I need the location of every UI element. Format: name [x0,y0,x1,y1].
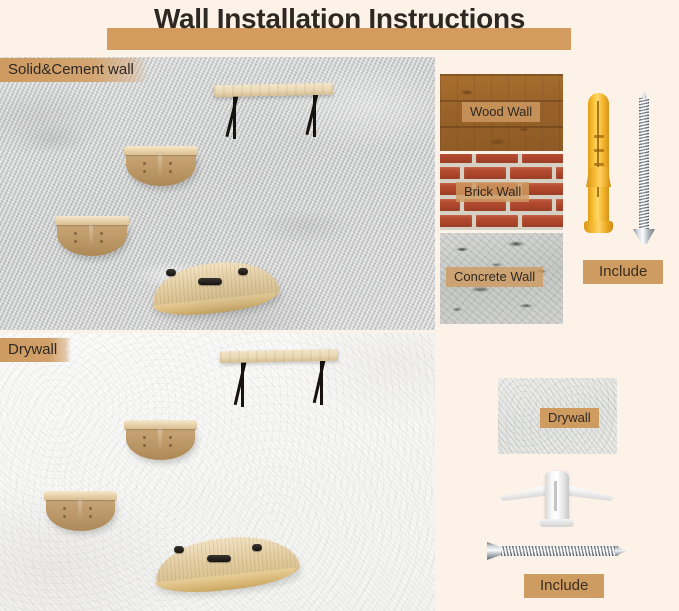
swatch-label-wood-wall: Wood Wall [462,102,540,122]
infographic-page: Wall Installation Instructions [0,0,679,611]
swatch-wood-wall: Wood Wall [440,74,563,151]
curved-perch-drywall [155,538,299,588]
wood-screw-horizontal-icon [487,540,629,562]
photo-drywall [0,333,435,611]
perch-grip-left [166,269,176,276]
step-body [46,498,115,531]
panel-label-solid-cement: Solid&Cement wall [0,58,148,82]
perch-grip-right [238,268,248,275]
toggle-base-flange [540,519,574,527]
include-label-drywall: Include [524,574,604,598]
swatch-drywall: Drywall [498,378,617,454]
swatch-brick-wall: Brick Wall [440,154,563,230]
perch-grip-center [198,278,222,285]
step-mounting-holes [126,153,196,186]
include-label-solid: Include [583,260,663,284]
shelf-board [220,349,338,363]
step-top-surface [55,216,129,225]
curved-perch-cement [152,263,279,311]
wall-shelf-cement [214,84,333,140]
panel-label-drywall: Drywall [0,338,71,362]
anchor-rib-1 [594,135,604,138]
wood-screw-vertical-icon [633,90,655,247]
half-moon-step-lower-drywall [44,491,117,531]
step-body [126,153,196,186]
perch-grip-right [252,544,262,551]
step-mounting-holes [57,223,127,256]
yellow-expansion-anchor-icon [584,93,613,246]
swatch-label-concrete-wall: Concrete Wall [446,267,543,287]
swatch-label-drywall: Drywall [540,408,599,428]
step-body [126,427,195,460]
shelf-bracket-left-vertical [241,360,244,407]
page-title: Wall Installation Instructions [0,3,679,35]
perch-grip-center [207,555,231,562]
screw-threaded-shank [639,98,649,232]
screw-threaded-shank [501,546,619,556]
anchor-rib-2 [594,149,604,152]
wall-shelf-drywall [220,350,338,408]
step-top-surface [124,420,197,429]
step-top-surface [44,491,117,500]
shelf-board [214,83,333,97]
step-mounting-holes [126,427,195,460]
step-mounting-holes [46,498,115,531]
anchor-collar [584,221,613,233]
screw-head [633,229,655,244]
perch-grip-left [174,546,184,553]
swatch-label-brick-wall: Brick Wall [456,182,529,202]
swatch-concrete-wall: Concrete Wall [440,233,563,324]
anchor-flare [586,167,611,187]
half-moon-step-upper-drywall [124,420,197,460]
anchor-rib-3 [594,163,604,166]
step-top-surface [124,146,198,155]
half-moon-step-lower-cement [55,216,129,256]
screw-tip [615,546,627,556]
photo-solid-cement-wall [0,57,435,330]
shelf-bracket-right-vertical [320,358,323,405]
toggle-body [545,471,569,523]
shelf-bracket-left-vertical [233,94,236,139]
white-toggle-anchor-icon [495,465,619,533]
header: Wall Installation Instructions [0,0,679,56]
step-body [57,223,127,256]
half-moon-step-upper-cement [124,146,198,186]
shelf-bracket-right-vertical [313,92,316,137]
